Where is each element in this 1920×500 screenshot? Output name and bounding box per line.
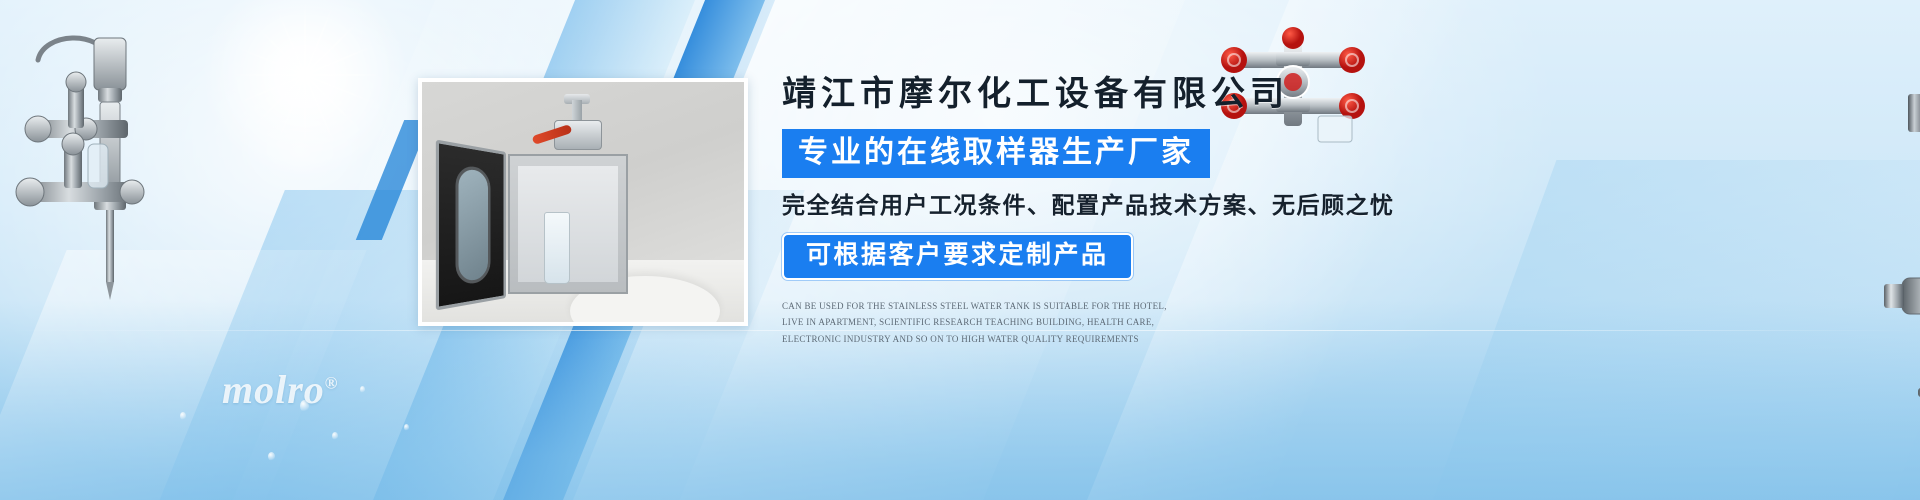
banner-copy: 靖江市摩尔化工设备有限公司 专业的在线取样器生产厂家 完全结合用户工况条件、配置… xyxy=(782,74,1402,348)
company-name: 靖江市摩尔化工设备有限公司 xyxy=(782,74,1402,117)
bottom-right-valve-illustration xyxy=(1880,228,1920,408)
watermark-registered-icon: ® xyxy=(325,374,339,393)
far-right-valve-illustration xyxy=(1906,20,1920,220)
headline-badge: 专业的在线取样器生产厂家 xyxy=(782,129,1210,178)
water-droplet xyxy=(300,400,309,412)
photo-cabinet-interior xyxy=(518,166,618,282)
photo-cabinet xyxy=(508,154,628,294)
photo-sample-bottle xyxy=(544,212,570,284)
diagonal-band-8 xyxy=(1404,160,1920,500)
watermark-text: molro xyxy=(222,367,325,412)
cta-badge[interactable]: 可根据客户要求定制产品 xyxy=(782,233,1133,280)
brand-watermark: molro® xyxy=(222,366,339,413)
photo-door-window xyxy=(456,164,491,285)
promo-banner: 靖江市摩尔化工设备有限公司 专业的在线取样器生产厂家 完全结合用户工况条件、配置… xyxy=(0,0,1920,500)
sub-headline: 完全结合用户工况条件、配置产品技术方案、无后顾之忧 xyxy=(782,192,1402,220)
sunburst-decoration xyxy=(175,0,435,205)
photo-cabinet-door xyxy=(436,139,506,310)
water-droplet xyxy=(332,432,338,440)
product-photo-image xyxy=(422,82,744,322)
left-sampler-illustration xyxy=(8,24,188,314)
product-photo xyxy=(418,78,748,326)
water-droplet xyxy=(268,452,275,461)
diagonal-band-6 xyxy=(0,250,367,500)
english-caption: CAN BE USED FOR THE STAINLESS STEEL WATE… xyxy=(782,298,1190,348)
water-droplet xyxy=(180,412,186,420)
water-droplet xyxy=(360,386,365,393)
photo-sampling-valve xyxy=(542,100,614,162)
water-droplet xyxy=(404,424,409,431)
